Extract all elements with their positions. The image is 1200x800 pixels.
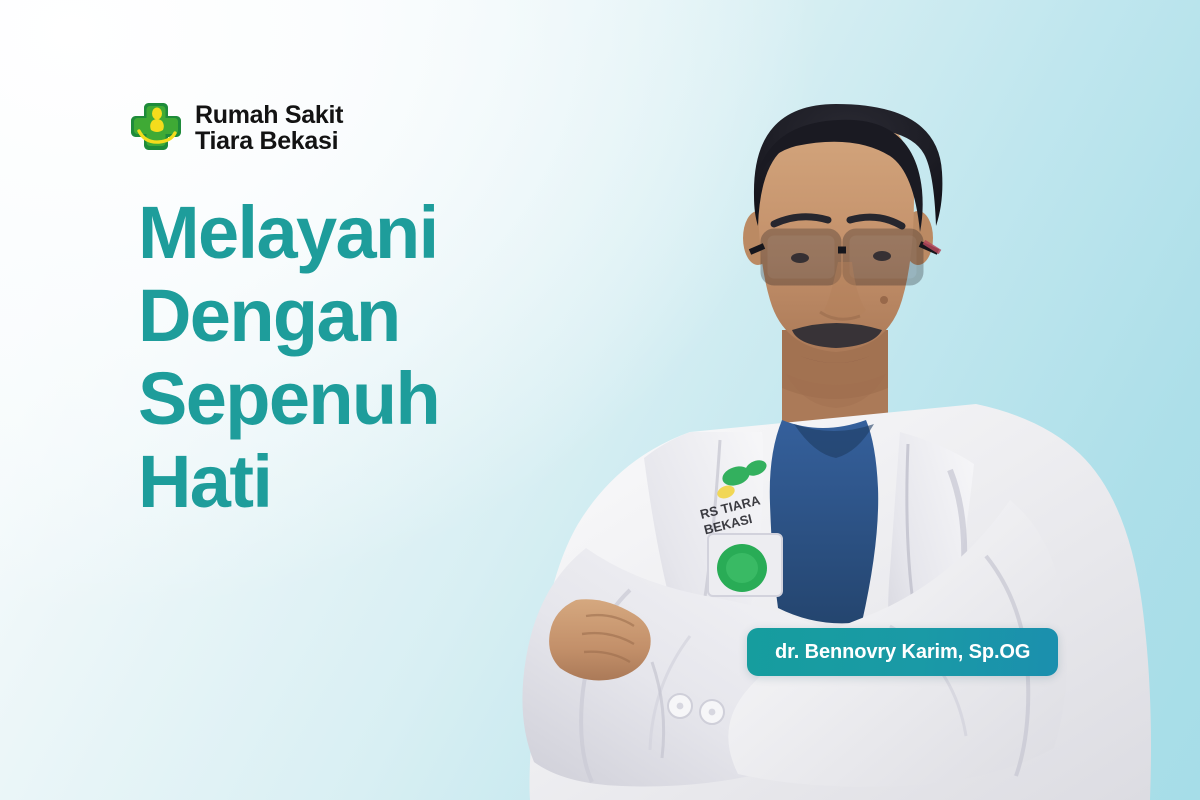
headline-line-2: Dengan [138, 275, 608, 358]
eyeglasses [750, 232, 940, 282]
outlined-medical-cross-icon [541, 712, 667, 800]
hero-banner: RS TIARA BEKASI [0, 0, 1200, 800]
brand-logo[interactable]: Rumah Sakit Tiara Bekasi [130, 100, 343, 156]
headline-line-3: Sepenuh [138, 358, 608, 441]
green-cross-mother-and-child-icon [130, 100, 182, 156]
brand-name-line-1: Rumah Sakit [195, 101, 343, 129]
brand-name: Rumah Sakit Tiara Bekasi [195, 102, 343, 155]
doctor-name-badge: dr. Bennovry Karim, Sp.OG [747, 628, 1058, 676]
page-title: Melayani Dengan Sepenuh Hati [138, 192, 608, 524]
brand-name-line-2: Tiara Bekasi [195, 128, 343, 155]
headline-line-4: Hati [138, 441, 608, 524]
svg-text:RS TIARA: RS TIARA [698, 492, 762, 522]
headline-line-1: Melayani [138, 192, 608, 275]
svg-text:BEKASI: BEKASI [702, 511, 753, 537]
